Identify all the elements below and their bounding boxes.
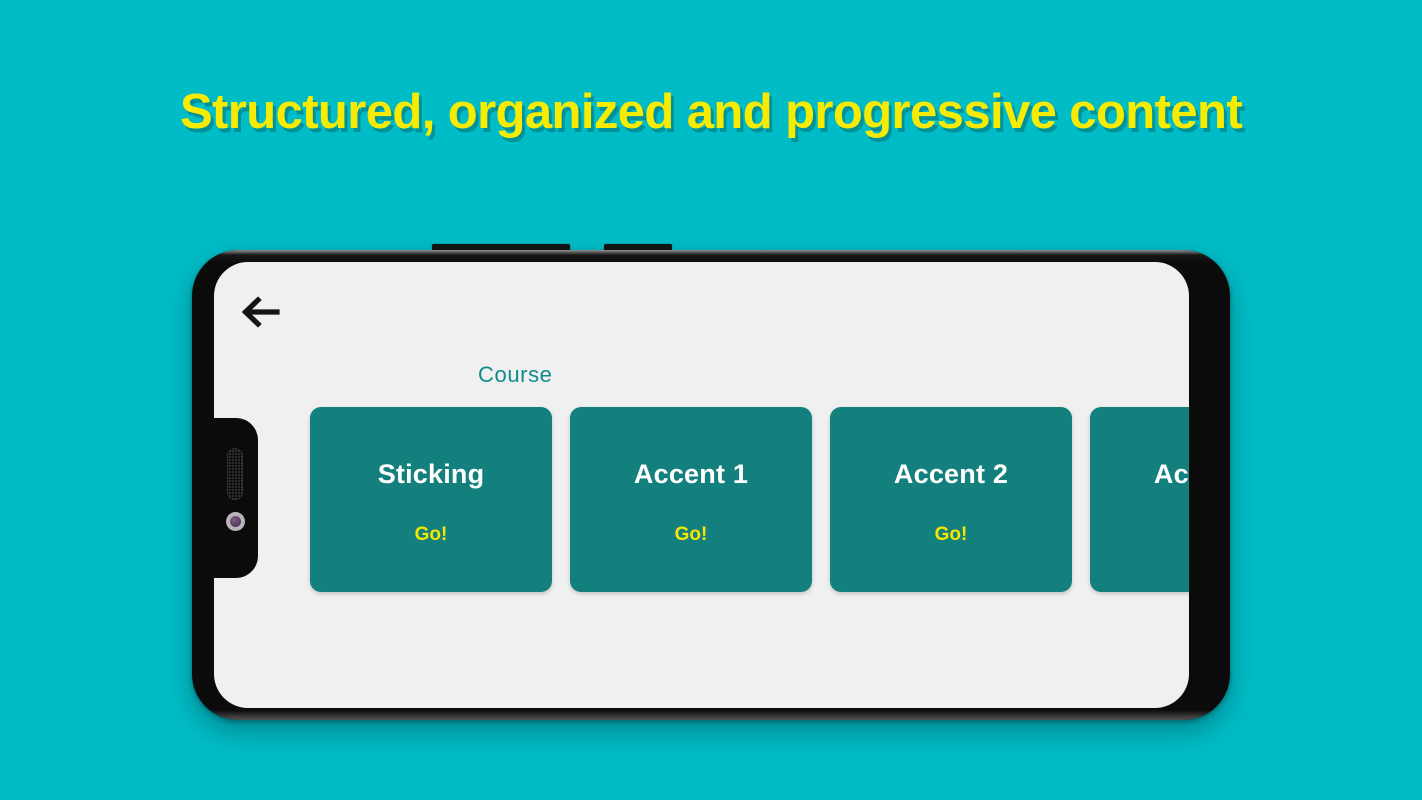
course-card-title: Accent 2 bbox=[894, 459, 1008, 490]
course-card-title: Sticking bbox=[378, 459, 485, 490]
back-arrow-icon bbox=[239, 295, 281, 329]
front-camera-icon bbox=[226, 512, 245, 531]
course-card[interactable]: Sticking Go! bbox=[310, 407, 552, 592]
course-card[interactable]: Accent 1 Go! bbox=[570, 407, 812, 592]
course-card-row: Sticking Go! Accent 1 Go! Accent 2 Go! A… bbox=[310, 407, 1189, 592]
phone-screen: Course Sticking Go! Accent 1 Go! Accent … bbox=[214, 262, 1189, 708]
back-button[interactable] bbox=[232, 284, 288, 340]
phone-mockup: Course Sticking Go! Accent 1 Go! Accent … bbox=[192, 250, 1230, 720]
section-label: Course bbox=[478, 362, 553, 388]
course-card-go-link[interactable]: Go! bbox=[415, 524, 448, 546]
course-card-title: Accent 3 bbox=[1154, 459, 1189, 490]
page-headline: Structured, organized and progressive co… bbox=[0, 84, 1422, 140]
phone-body: Course Sticking Go! Accent 1 Go! Accent … bbox=[192, 250, 1230, 720]
course-card[interactable]: Accent 2 Go! bbox=[830, 407, 1072, 592]
course-card-title: Accent 1 bbox=[634, 459, 748, 490]
course-card-go-link[interactable]: Go! bbox=[935, 524, 968, 546]
course-card[interactable]: Accent 3 Go! bbox=[1090, 407, 1189, 592]
course-card-go-link[interactable]: Go! bbox=[675, 524, 708, 546]
speaker-grille-icon bbox=[227, 448, 243, 500]
